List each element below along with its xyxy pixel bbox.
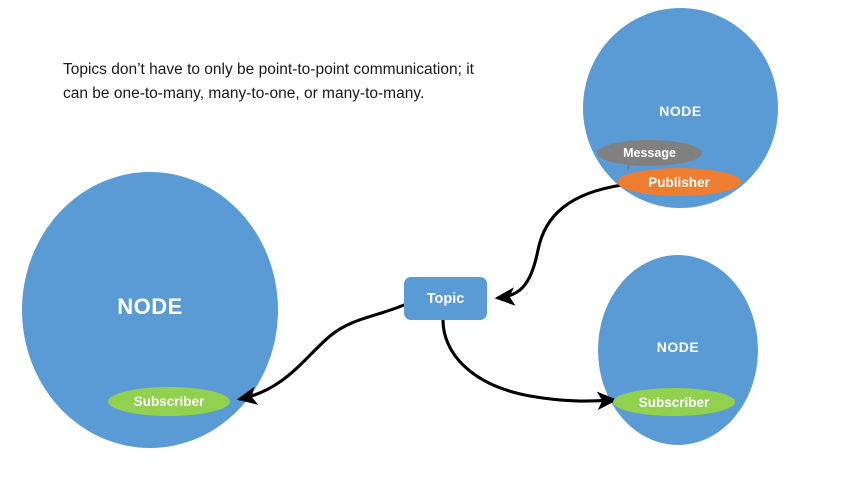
subscriber-pill-bottom-right-label: Subscriber	[639, 395, 710, 410]
subscriber-pill-bottom-right[interactable]: Subscriber	[613, 388, 735, 416]
topic-box-label: Topic	[427, 291, 465, 307]
diagram-canvas: Topics don’t have to only be point-to-po…	[0, 0, 854, 480]
arrow-topic-to-subscriber-right	[443, 320, 614, 401]
node-left-label: NODE	[22, 294, 278, 320]
topic-box[interactable]: Topic	[404, 277, 487, 320]
page-title: Topics don’t have to only be point-to-po…	[63, 58, 483, 106]
subscriber-pill-left-label: Subscriber	[134, 394, 205, 409]
node-top-right-label: NODE	[583, 103, 778, 119]
subscriber-pill-left[interactable]: Subscriber	[108, 387, 230, 416]
publisher-pill[interactable]: Publisher	[617, 168, 741, 196]
publisher-pill-label: Publisher	[648, 175, 710, 190]
arrow-publisher-to-topic	[498, 185, 622, 298]
message-pill[interactable]: Message	[597, 140, 702, 166]
node-bottom-right-label: NODE	[598, 339, 758, 355]
node-bottom-right[interactable]: NODE	[598, 255, 758, 445]
message-callout-tail-icon	[627, 158, 635, 172]
